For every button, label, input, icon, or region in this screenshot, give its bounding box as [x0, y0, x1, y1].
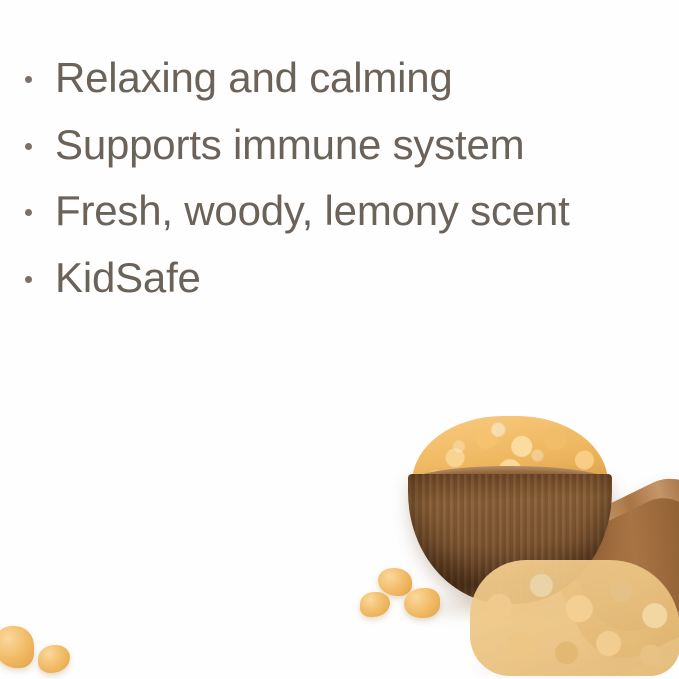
resin-chunk [38, 645, 70, 673]
list-item: KidSafe [0, 252, 679, 305]
benefit-label: Supports immune system [55, 121, 524, 168]
benefit-label: Relaxing and calming [55, 54, 453, 101]
resin-chunk [0, 626, 34, 668]
list-item: Fresh, woody, lemony scent [0, 185, 679, 238]
list-item: Relaxing and calming [0, 52, 679, 105]
resin-chunk [404, 588, 440, 618]
bullet-dot-icon [25, 276, 32, 283]
benefit-label: KidSafe [55, 254, 201, 301]
resin-chunk [360, 592, 390, 617]
bullet-dot-icon [25, 76, 32, 83]
benefit-label: Fresh, woody, lemony scent [55, 187, 570, 234]
product-photo [0, 400, 679, 679]
benefits-list: Relaxing and calming Supports immune sys… [0, 52, 679, 318]
bullet-dot-icon [25, 209, 32, 216]
product-benefits-infographic: Relaxing and calming Supports immune sys… [0, 0, 679, 679]
bullet-dot-icon [25, 143, 32, 150]
spilled-resin-pile [470, 560, 679, 676]
list-item: Supports immune system [0, 119, 679, 172]
resin-chunk [378, 568, 412, 596]
